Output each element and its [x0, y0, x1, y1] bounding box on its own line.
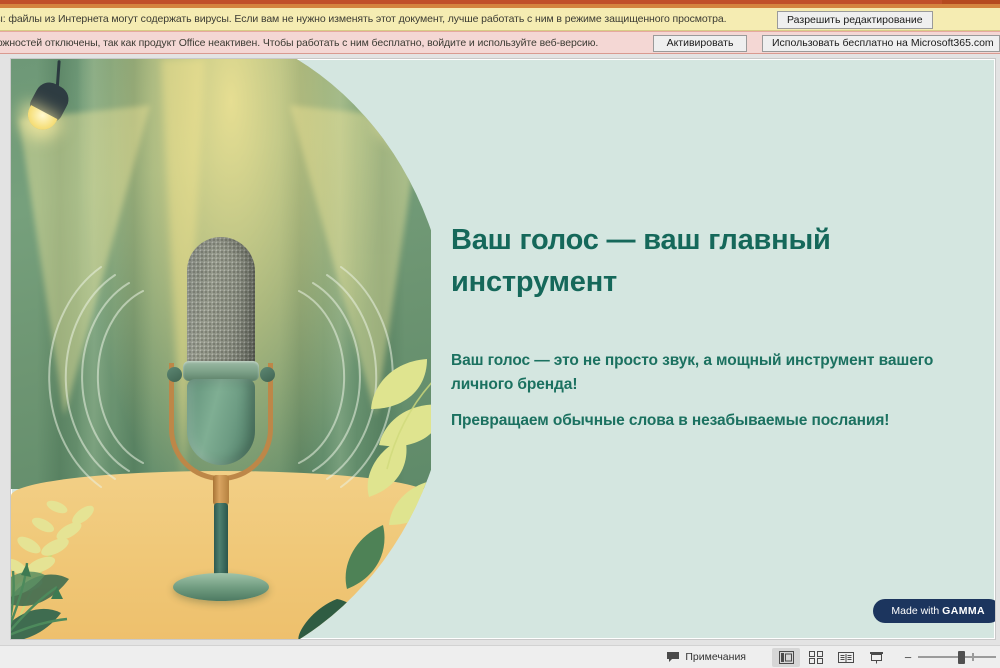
slide-body-line-2: Превращаем обычные слова в незабываемые … [451, 409, 971, 433]
microphone-illustration [11, 59, 431, 640]
status-bar: Примечания [0, 645, 1000, 668]
activation-bar: возможностей отключены, так как продукт … [0, 31, 1000, 54]
slide-body[interactable]: Ваш голос — это не просто звук, а мощный… [451, 349, 971, 445]
foliage-right [277, 309, 431, 640]
slide-sorter-icon [809, 651, 823, 664]
zoom-out-button[interactable]: − [902, 650, 914, 665]
vintage-microphone [159, 237, 283, 597]
slide-text-panel: Ваш голос — ваш главный инструмент Ваш г… [443, 59, 996, 640]
enable-editing-button[interactable]: Разрешить редактирование [777, 11, 933, 29]
notes-icon [666, 651, 680, 663]
made-with-gamma-badge[interactable]: Made with GAMMA [873, 599, 996, 623]
zoom-control: − [902, 650, 996, 665]
zoom-slider-track [918, 656, 996, 658]
slide-body-line-1: Ваш голос — это не просто звук, а мощный… [451, 349, 971, 397]
slide-canvas[interactable]: Ваш голос — ваш главный инструмент Ваш г… [10, 58, 996, 640]
normal-view-button[interactable] [772, 648, 800, 667]
badge-prefix: Made with [891, 605, 942, 617]
slide-sorter-view-button[interactable] [802, 648, 830, 667]
slideshow-view-button[interactable] [862, 648, 890, 667]
activation-message: возможностей отключены, так как продукт … [0, 37, 598, 49]
reading-view-icon [838, 651, 854, 664]
zoom-slider-tick [972, 653, 974, 661]
activate-button[interactable]: Активировать [653, 35, 747, 52]
protected-view-bar: ожны: файлы из Интернета могут содержать… [0, 8, 1000, 31]
notes-label: Примечания [685, 651, 746, 663]
use-free-microsoft365-button[interactable]: Использовать бесплатно на Microsoft365.c… [762, 35, 1000, 52]
powerpoint-window: ожны: файлы из Интернета могут содержать… [0, 0, 1000, 668]
foliage-bottom-left [11, 529, 121, 640]
slide-workspace: Ваш голос — ваш главный инструмент Ваш г… [0, 54, 1000, 645]
badge-brand: GAMMA [942, 605, 985, 617]
slideshow-icon [869, 651, 884, 664]
view-buttons-group [772, 648, 890, 667]
slide-title[interactable]: Ваш голос — ваш главный инструмент [451, 219, 881, 303]
normal-view-icon [779, 651, 794, 664]
protected-view-message: ожны: файлы из Интернета могут содержать… [0, 13, 726, 25]
reading-view-button[interactable] [832, 648, 860, 667]
ribbon-strip [0, 0, 1000, 8]
notes-button[interactable]: Примечания [666, 651, 746, 663]
ribbon-cap [942, 0, 1000, 4]
zoom-slider[interactable] [918, 651, 996, 663]
zoom-slider-thumb[interactable] [958, 651, 965, 664]
